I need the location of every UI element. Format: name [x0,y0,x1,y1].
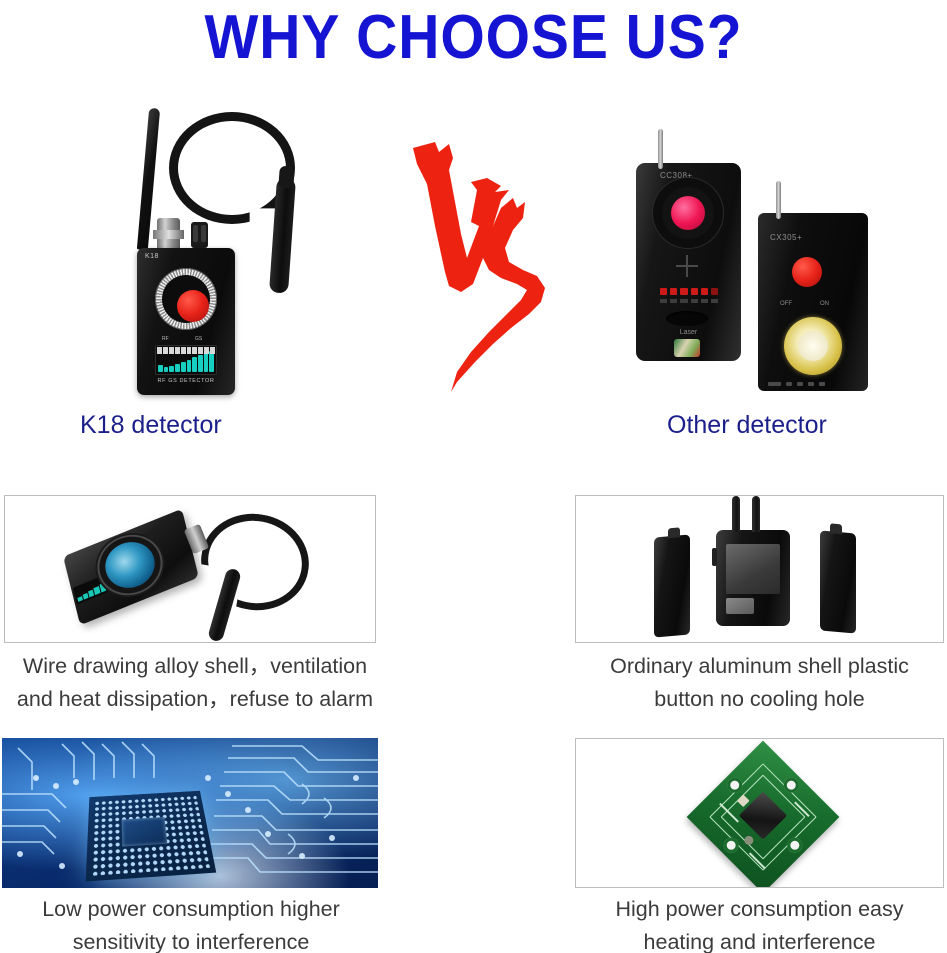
off-label: OFF [780,301,792,307]
vs-icon [405,130,580,395]
bottom-controls [768,381,858,387]
k18-detector-image: K18 RF GS RF GS DETECTOR [105,100,385,410]
laser-label: Laser [636,329,741,336]
caption-k18-shell: Wire drawing alloy shell，ventilation and… [0,650,390,716]
caption-high-power: High power consumption easy heating and … [572,893,947,953]
antenna [752,496,760,532]
led-indicator-row [660,287,718,295]
other-detectors-image: CC308+ Laser CX305+ OFF ON [600,125,910,415]
k18-detector-angled-photo [5,496,375,642]
blue-circuit-board-chip-photo [2,738,378,888]
caption-low-power: Low power consumption higher sensitivity… [6,893,376,953]
k18-body: K18 RF GS RF GS DETECTOR [137,248,235,395]
caption-line: Wire drawing alloy shell，ventilation [0,650,390,683]
versus-graphic [405,130,580,395]
green-circuit-board-module-photo [576,739,943,887]
crosshair-icon [676,255,698,277]
antenna [658,129,663,169]
k18-footer-text: RF GS DETECTOR [137,378,235,384]
k18-model-text: K18 [145,253,159,260]
device-left-side-view [654,534,690,637]
other-detector-b: CX305+ OFF ON [758,213,868,391]
display-screen [726,544,780,594]
green-pcb [687,741,840,888]
page-title: WHY CHOOSE US? [38,2,909,73]
knob [668,527,680,538]
red-button [177,290,209,322]
led-labels [660,299,718,304]
dial-ring [155,268,217,330]
on-label: ON [820,301,829,307]
speaker-grille [666,311,708,326]
probe-cable [193,505,316,618]
knob [830,523,842,534]
antenna [732,496,740,532]
caption-line: High power consumption easy [572,893,947,926]
device-right-side-view [820,530,856,633]
red-button [792,257,822,287]
caption-other-shell: Ordinary aluminum shell plastic button n… [572,650,947,716]
feature-photo-high-power [575,738,944,888]
antenna [776,181,781,219]
feature-photo-k18-shell [4,495,376,643]
device-center-front-view [716,530,790,626]
caption-line: button no cooling hole [572,683,947,716]
caption-line: Ordinary aluminum shell plastic [572,650,947,683]
side-button [712,548,717,566]
green-component [674,339,700,357]
chip-core [122,817,168,847]
caption-line: and heat dissipation，refuse to alarm [0,683,390,716]
rf-label: RF [162,336,169,342]
infographic-page: WHY CHOOSE US? K18 RF GS [0,0,947,953]
feature-photo-low-power [2,738,378,888]
secondary-panel [726,598,754,614]
other-detector-a: CC308+ Laser [636,163,741,361]
other-detector-label: Other detector [667,411,827,440]
led-bar-segments [157,347,215,354]
comparison-row: K18 RF GS RF GS DETECTOR [0,95,947,415]
ordinary-plastic-detectors-photo [576,496,943,642]
caption-line: sensitivity to interference [6,926,376,953]
dial-inner [162,275,210,323]
feature-photo-other-shell [575,495,944,643]
device-port [191,222,208,248]
gs-label: GS [195,336,202,342]
k18-detector-label: K18 detector [80,411,222,440]
device-a-model-text: CC308+ [660,171,693,180]
bga-chip [86,791,217,882]
gold-dial-gauge [784,317,842,375]
device-b-model-text: CX305+ [770,233,802,242]
camera-lens [662,187,714,239]
caption-line: Low power consumption higher [6,893,376,926]
caption-line: heating and interference [572,926,947,953]
